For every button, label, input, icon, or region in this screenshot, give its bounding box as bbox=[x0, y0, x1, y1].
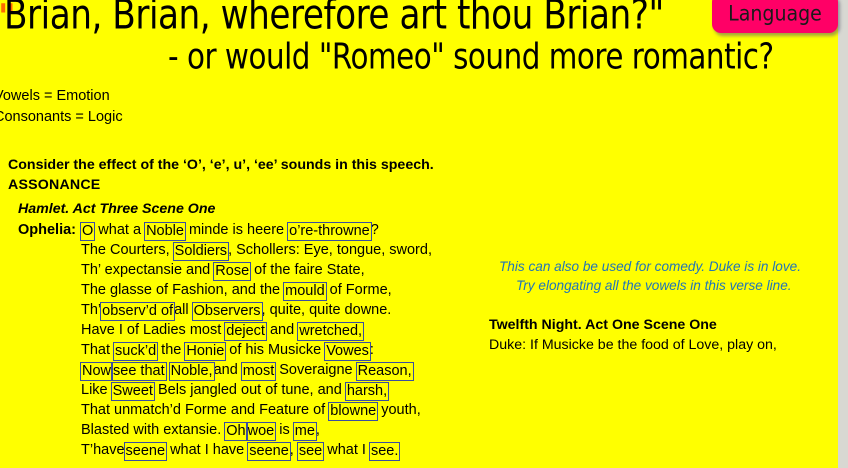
speech-line: That unmatch’d Forme and Feature of blow… bbox=[18, 400, 432, 420]
highlighted-sound-box: O bbox=[80, 222, 95, 241]
highlighted-sound-box: deject bbox=[224, 322, 267, 341]
highlighted-sound-box: Vowes bbox=[324, 342, 371, 361]
speech-text: T’have bbox=[81, 442, 125, 458]
speech-text: The Courters, bbox=[81, 242, 174, 258]
highlighted-sound-box: observ’d of bbox=[100, 302, 175, 321]
highlighted-sound-box: Reason, bbox=[356, 362, 414, 381]
highlighted-sound-box: suck’d bbox=[113, 342, 158, 361]
speech-line: The Courters, Soldiers, Schollers: Eye, … bbox=[18, 240, 432, 260]
speech-text: The glasse of Fashion, and the bbox=[81, 282, 284, 298]
assonance-term: ASSONANCE bbox=[8, 177, 100, 193]
highlighted-sound-box: o’re-throwne bbox=[287, 222, 372, 241]
speech-text: ? bbox=[371, 222, 379, 238]
highlighted-sound-box: harsh, bbox=[345, 382, 389, 401]
speech-speaker: Ophelia: bbox=[18, 220, 81, 240]
speech-text: of Forme, bbox=[326, 282, 392, 298]
speech-line: Like Sweet Bels jangled out of tune, and… bbox=[18, 380, 432, 400]
highlighted-sound-box: wretched, bbox=[297, 322, 364, 341]
speech-text: , quite, quite downe. bbox=[262, 302, 392, 318]
speech-line: Th’ expectansie and Rose of the faire St… bbox=[18, 260, 432, 280]
speech-text: Have I of Ladies most bbox=[81, 322, 225, 338]
highlighted-sound-box: Noble, bbox=[169, 362, 215, 381]
speech-text: and bbox=[266, 322, 298, 338]
speech-text: Like bbox=[81, 382, 112, 398]
speech-text: is bbox=[275, 422, 294, 438]
speech-line: The glasse of Fashion, and the mould of … bbox=[18, 280, 432, 300]
title-line-1: Brian, Brian, wherefore art thou Brian?" bbox=[4, 0, 664, 39]
highlighted-sound-box: Observers bbox=[192, 302, 263, 321]
speech-text: Th’ bbox=[81, 302, 101, 318]
highlighted-sound-box: Now bbox=[80, 362, 113, 381]
twelfth-night-heading: Twelfth Night. Act One Scene One bbox=[489, 317, 717, 333]
hamlet-speech: Ophelia:O what a Noble minde is heere o’… bbox=[18, 220, 432, 460]
speech-text: That unmatch’d Forme and Feature of bbox=[81, 402, 329, 418]
speech-text: all bbox=[174, 302, 193, 318]
speech-text: minde is heere bbox=[185, 222, 288, 238]
highlighted-sound-box: most bbox=[241, 362, 276, 381]
speech-text: of his Musicke bbox=[225, 342, 325, 358]
note-line-1: This can also be used for comedy. Duke i… bbox=[499, 259, 801, 274]
highlighted-sound-box: me bbox=[293, 422, 317, 441]
note-line-2: Try elongating all the vowels in this ve… bbox=[516, 278, 792, 293]
speech-line: That suck’d the Honie of his Musicke Vow… bbox=[18, 340, 432, 360]
speech-text: the bbox=[157, 342, 185, 358]
highlighted-sound-box: Sweet bbox=[111, 382, 155, 401]
speech-text: and bbox=[214, 362, 242, 378]
speech-text: Th’ expectansie and bbox=[81, 262, 214, 278]
highlighted-sound-box: mould bbox=[283, 282, 327, 301]
highlighted-sound-box: see. bbox=[369, 442, 400, 461]
title-line-2: - or would "Romeo" sound more romantic? bbox=[168, 36, 774, 78]
speech-text: , Schollers: Eye, tongue, sword, bbox=[228, 242, 432, 258]
language-badge-label: Language bbox=[712, 2, 838, 26]
speech-text: Soveraigne bbox=[275, 362, 356, 378]
speech-line: Blasted with extansie. Ohwoe is me, bbox=[18, 420, 432, 440]
highlighted-sound-box: Honie bbox=[184, 342, 226, 361]
legend-vowels: Vowels = Emotion bbox=[0, 88, 110, 104]
highlighted-sound-box: Rose bbox=[213, 262, 251, 281]
hamlet-heading: Hamlet. Act Three Scene One bbox=[18, 201, 215, 217]
highlighted-sound-box: seene bbox=[247, 442, 291, 461]
speech-line: Ophelia:O what a Noble minde is heere o’… bbox=[18, 220, 432, 240]
speech-text: of the faire State, bbox=[250, 262, 364, 278]
highlighted-sound-box: see that bbox=[111, 362, 167, 381]
speech-text: what a bbox=[94, 222, 145, 238]
language-badge[interactable]: Language bbox=[712, 0, 838, 33]
legend-consonants: Consonants = Logic bbox=[0, 109, 123, 125]
highlighted-sound-box: see bbox=[297, 442, 324, 461]
twelfth-night-quote: Duke: If Musicke be the food of Love, pl… bbox=[489, 337, 777, 353]
highlighted-sound-box: Noble bbox=[144, 222, 186, 241]
speech-line: T’haveseene what I have seene, see what … bbox=[18, 440, 432, 460]
speech-line: Nowsee that Noble,and most Soveraigne Re… bbox=[18, 360, 432, 380]
speech-text: Blasted with extansie. bbox=[81, 422, 225, 438]
highlighted-sound-box: Oh bbox=[224, 422, 247, 441]
highlighted-sound-box: seene bbox=[124, 442, 168, 461]
slide-canvas: " Brian, Brian, wherefore art thou Brian… bbox=[0, 0, 848, 468]
instruction-text: Consider the effect of the ‘O’, ‘e’, u’,… bbox=[8, 157, 434, 173]
speech-text: youth, bbox=[377, 402, 421, 418]
right-edge-strip bbox=[838, 0, 848, 468]
speech-line: Have I of Ladies most deject and wretche… bbox=[18, 320, 432, 340]
speech-line: Th’observ’d of all Observers, quite, qui… bbox=[18, 300, 432, 320]
highlighted-sound-box: blowne bbox=[328, 402, 378, 421]
speech-text: Bels jangled out of tune, and bbox=[154, 382, 346, 398]
highlighted-sound-box: Soldiers bbox=[173, 242, 229, 261]
speech-text: That bbox=[81, 342, 114, 358]
highlighted-sound-box: woe bbox=[246, 422, 277, 441]
speech-text: what I have bbox=[166, 442, 248, 458]
speech-text: what I bbox=[323, 442, 370, 458]
